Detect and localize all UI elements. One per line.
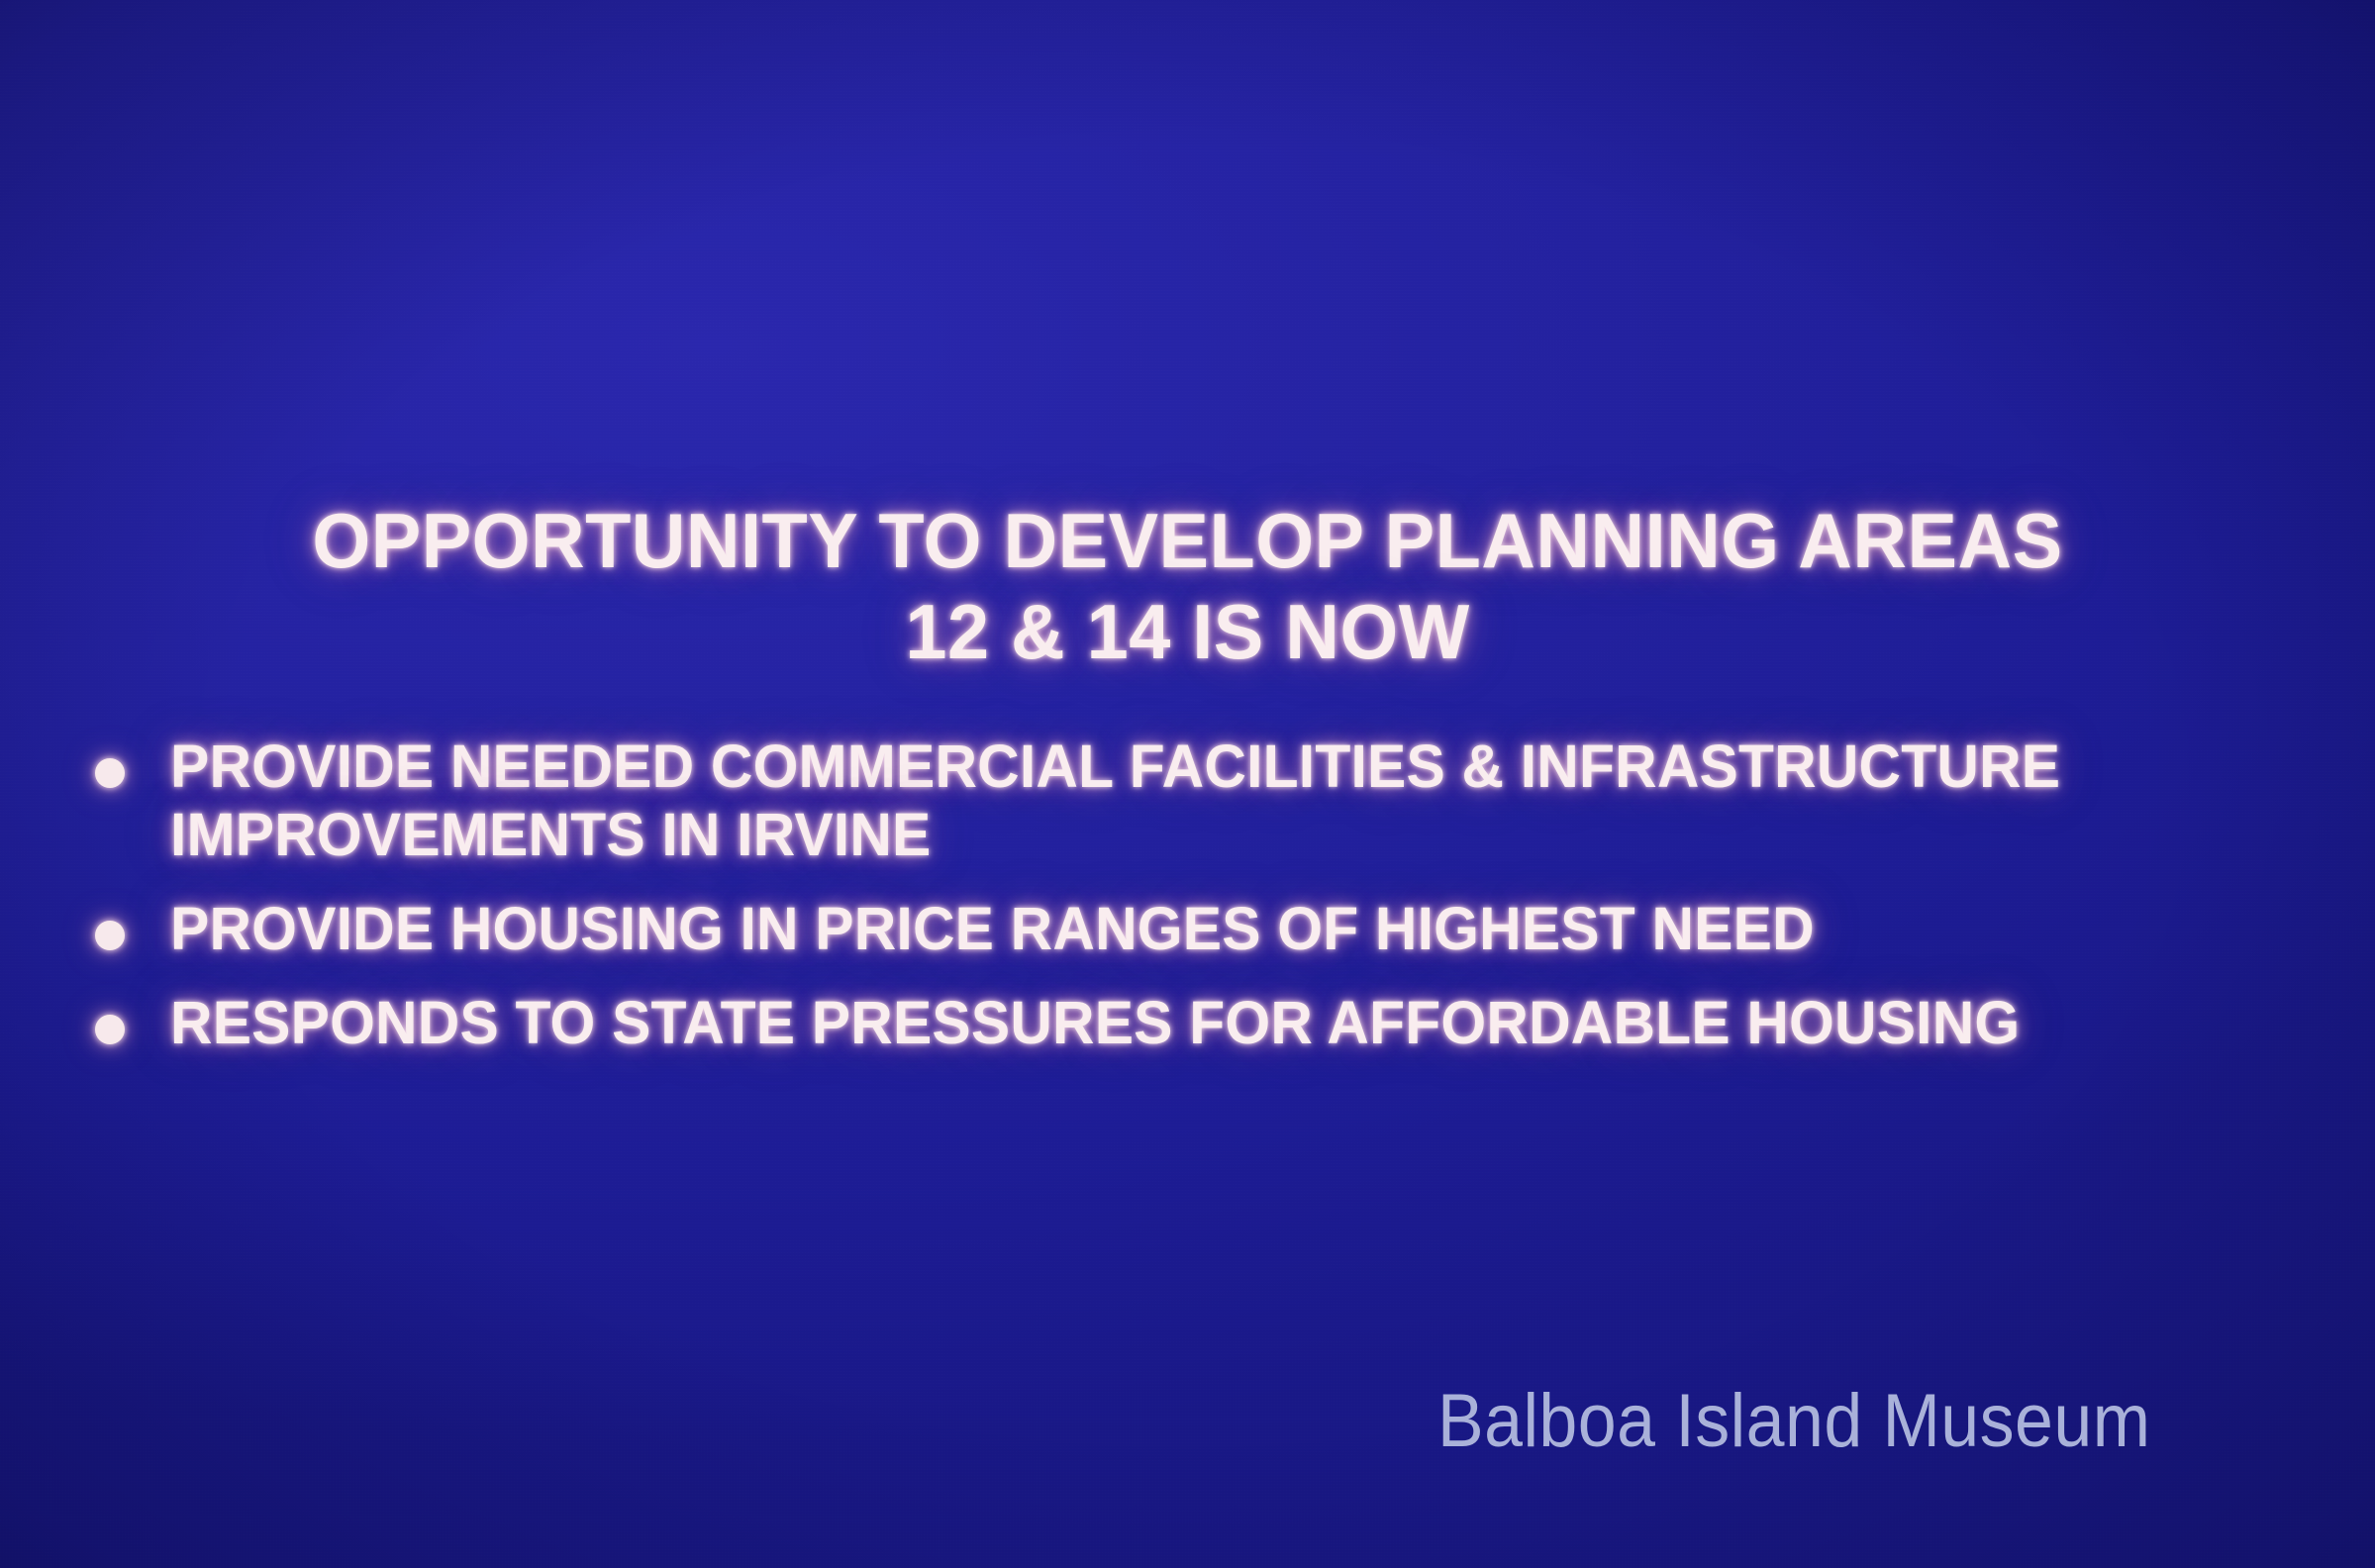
- round-bullet-icon: [95, 758, 125, 788]
- slide-title: OPPORTUNITY TO DEVELOP PLANNING AREAS 12…: [0, 495, 2375, 677]
- title-line-1: OPPORTUNITY TO DEVELOP PLANNING AREAS: [36, 495, 2339, 586]
- slide-content: OPPORTUNITY TO DEVELOP PLANNING AREAS 12…: [0, 0, 2375, 1568]
- bullet-text-1: PROVIDE NEEDED COMMERCIAL FACILITIES & I…: [170, 733, 2240, 869]
- list-item: PROVIDE NEEDED COMMERCIAL FACILITIES & I…: [0, 733, 2375, 869]
- bullet-text-2: PROVIDE HOUSING IN PRICE RANGES OF HIGHE…: [170, 895, 2240, 963]
- bullet-list: PROVIDE NEEDED COMMERCIAL FACILITIES & I…: [0, 733, 2375, 1083]
- slide-canvas: OPPORTUNITY TO DEVELOP PLANNING AREAS 12…: [0, 0, 2375, 1568]
- round-bullet-icon: [95, 1015, 125, 1044]
- watermark-label: Balboa Island Museum: [1437, 1378, 2150, 1464]
- list-item: RESPONDS TO STATE PRESSURES FOR AFFORDAB…: [0, 989, 2375, 1057]
- bullet-text-3: RESPONDS TO STATE PRESSURES FOR AFFORDAB…: [170, 989, 2240, 1057]
- round-bullet-icon: [95, 921, 125, 950]
- title-line-2: 12 & 14 IS NOW: [36, 586, 2339, 677]
- list-item: PROVIDE HOUSING IN PRICE RANGES OF HIGHE…: [0, 895, 2375, 963]
